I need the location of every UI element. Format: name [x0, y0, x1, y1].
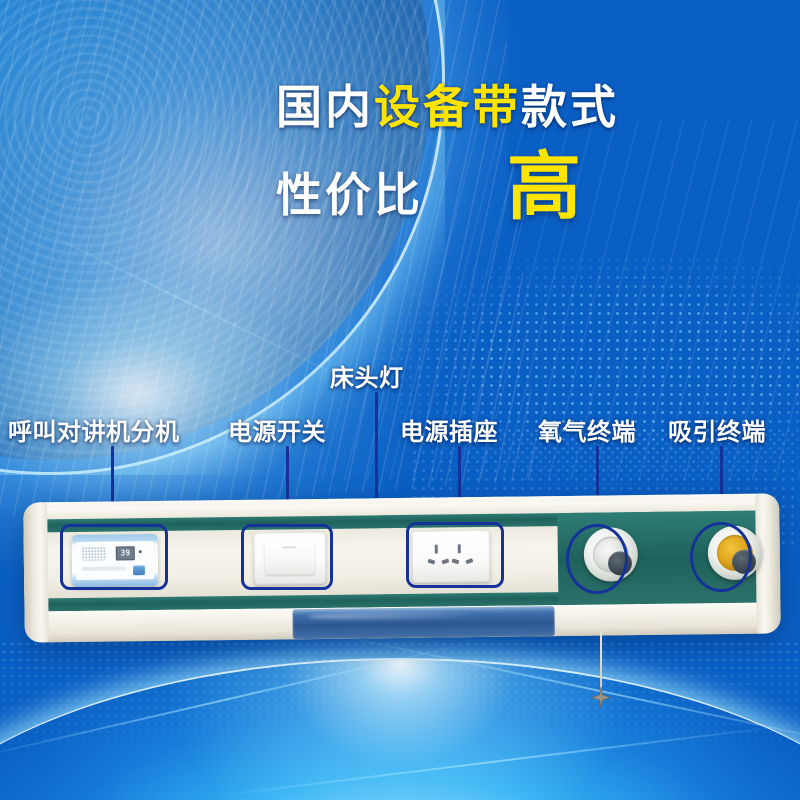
pull-cord-icon[interactable]: [600, 631, 602, 693]
callout-intercom: 呼叫对讲机分机: [8, 412, 180, 447]
callout-label-switch: 电源开关: [228, 418, 326, 446]
callout-socket: 电源插座: [400, 412, 498, 447]
callout-suction: 吸引终端: [668, 412, 766, 447]
highlight-circle-suction: [690, 522, 752, 592]
headline-line-1: 国内设备带款式: [276, 84, 776, 130]
callout-label-suction: 吸引终端: [668, 418, 766, 446]
highlight-circle-oxygen: [566, 524, 628, 594]
bedside-lamp-diffuser-icon[interactable]: [292, 606, 554, 639]
headline-block: 国内设备带款式 性价比 高: [276, 84, 776, 218]
callout-label-socket: 电源插座: [400, 418, 498, 446]
callout-switch: 电源开关: [228, 412, 326, 447]
promo-banner: 国内设备带款式 性价比 高 呼叫对讲机分机 电源开关 床头灯 电源插座 氧气终端…: [0, 0, 800, 800]
headline-line1-accent: 设备带: [374, 80, 521, 134]
pull-cord-handle[interactable]: [589, 686, 613, 710]
callout-label-intercom: 呼叫对讲机分机: [8, 418, 180, 446]
highlight-box-socket: [406, 522, 504, 588]
callout-label-bedlamp: 床头灯: [330, 364, 404, 392]
callout-oxygen: 氧气终端: [538, 412, 636, 447]
headline-line1-part2: 款式: [521, 80, 619, 134]
headline-line2-accent: 高: [507, 156, 581, 218]
headline-line2-white: 性价比: [276, 172, 423, 218]
headline-line-2: 性价比 高: [276, 156, 776, 218]
callout-bedlamp: 床头灯: [330, 358, 404, 393]
headline-line1-part1: 国内: [276, 80, 374, 134]
highlight-box-intercom: [60, 524, 168, 590]
callout-label-oxygen: 氧气终端: [538, 418, 636, 446]
panel-end-cap-left: [23, 502, 49, 642]
highlight-box-switch: [241, 524, 333, 590]
